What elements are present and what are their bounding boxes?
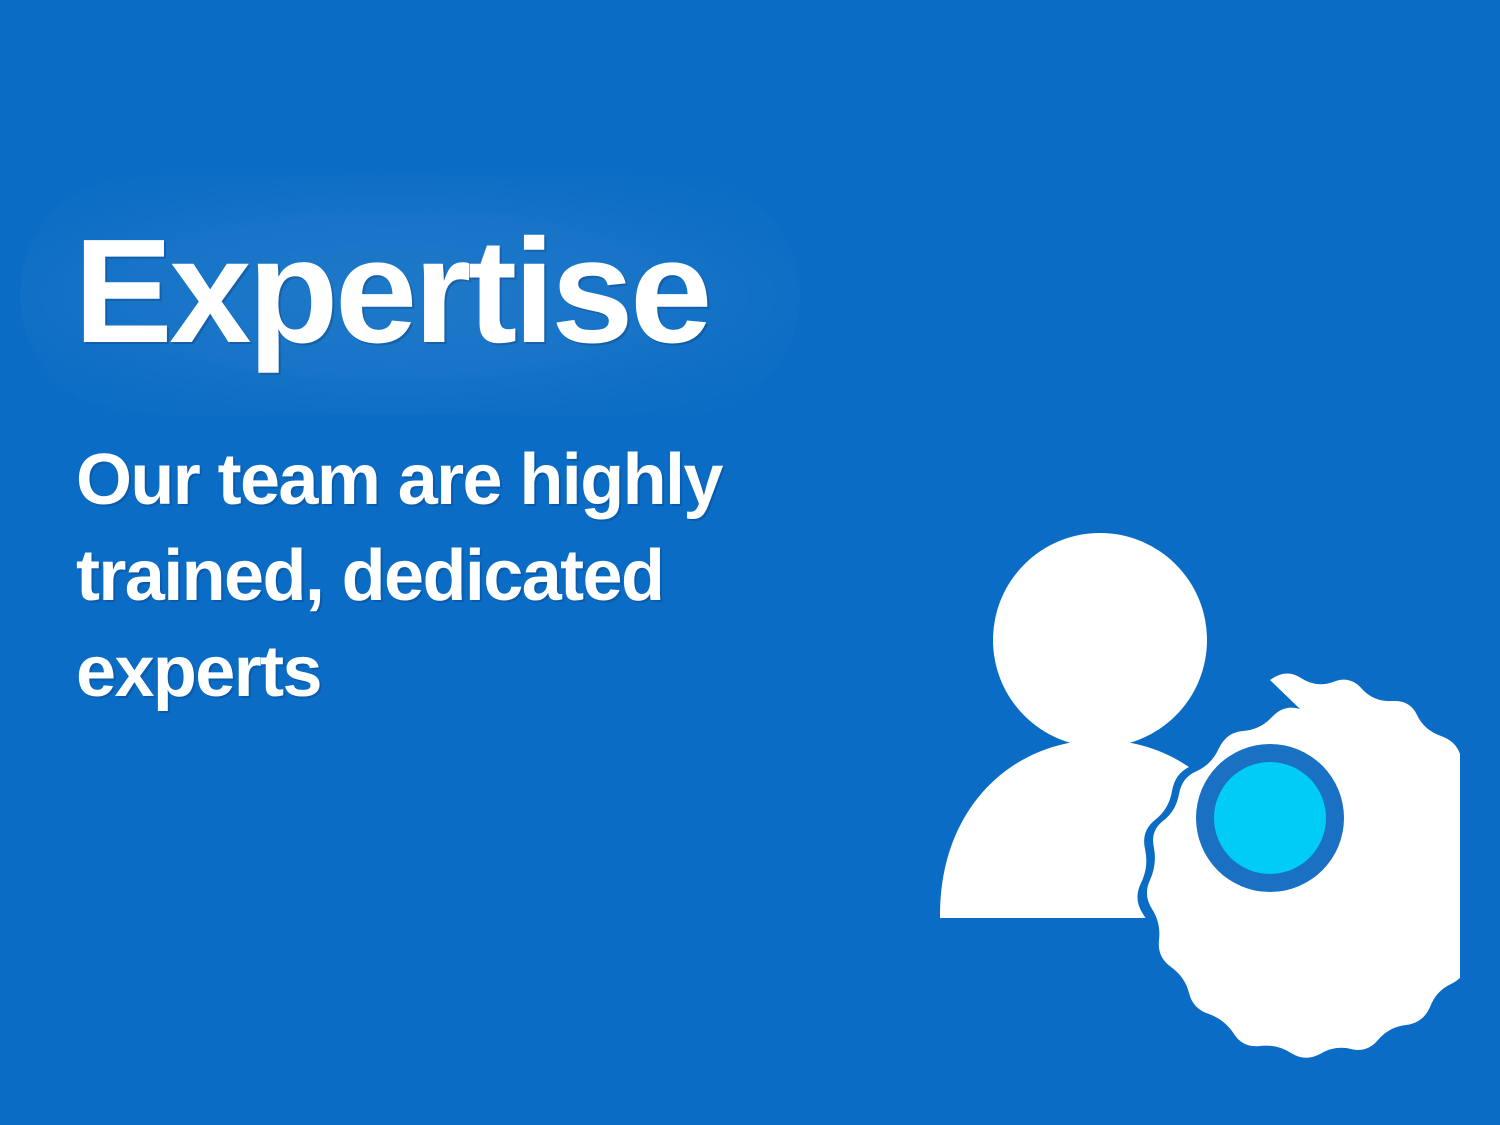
page-title: Expertise (74, 218, 709, 366)
subtitle-block: Our team are highly trained, dedicated e… (76, 432, 926, 720)
certified-person-icon (900, 500, 1460, 1060)
award-badge-rosette (1147, 673, 1460, 1057)
subtitle-line-3: experts (76, 624, 926, 720)
slide-root: Expertise Our team are highly trained, d… (0, 0, 1500, 1125)
subtitle-line-2: trained, dedicated (76, 528, 926, 624)
subtitle-line-1: Our team are highly (76, 432, 926, 528)
